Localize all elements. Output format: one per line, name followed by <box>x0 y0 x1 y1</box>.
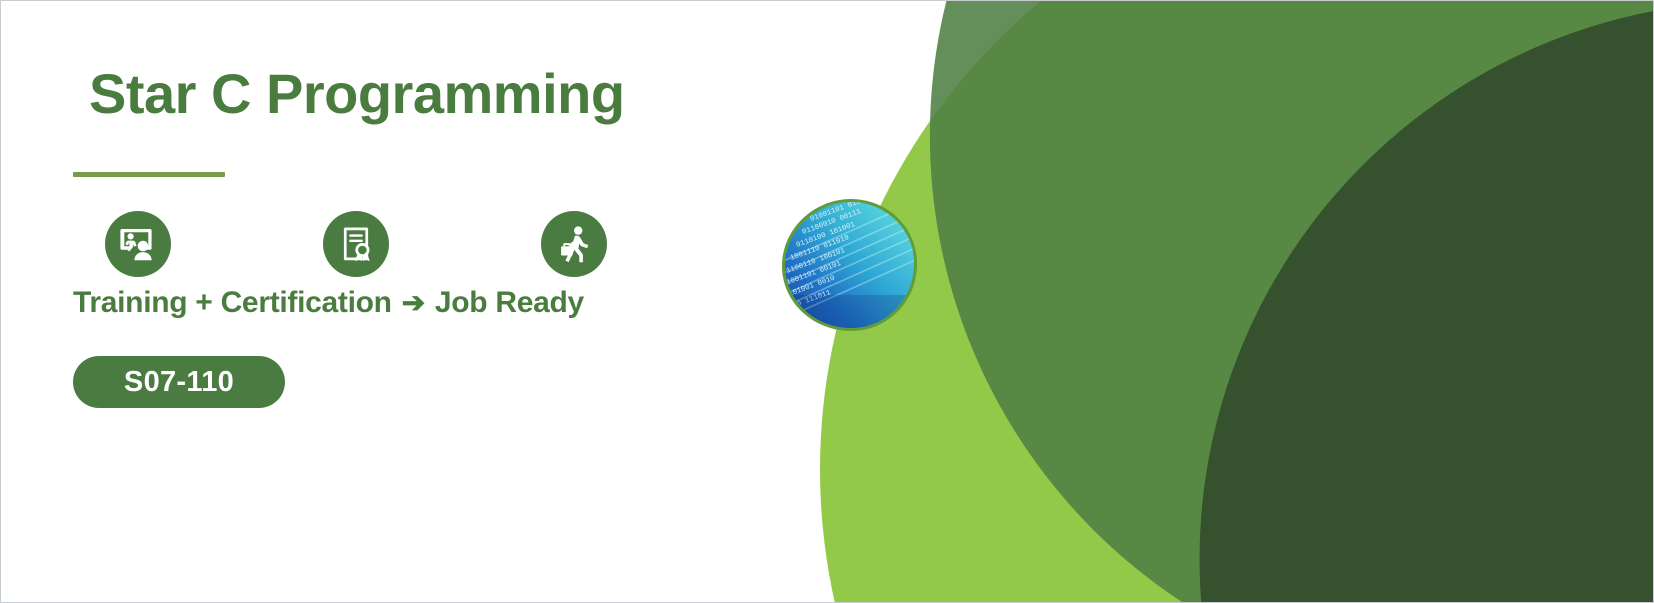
certificate-icon-glyph <box>336 224 376 264</box>
job-ready-icon[interactable] <box>541 211 607 277</box>
page-title: Star C Programming <box>89 65 625 124</box>
certificate-icon[interactable] <box>323 211 389 277</box>
course-code-badge[interactable]: S07-110 <box>73 356 285 408</box>
shape-dark-green-circle <box>1200 1 1653 602</box>
tagline-after-arrow: Job Ready <box>435 286 584 320</box>
training-icon-glyph <box>118 224 158 264</box>
arrow-right-icon: ➔ <box>402 289 425 317</box>
shape-light-green-circle <box>820 1 1653 602</box>
feature-icon-row <box>105 211 607 277</box>
binary-data-sphere: 01001101 0100 01100010 00111 0110100 101… <box>781 199 917 331</box>
course-banner: 01001101 0100 01100010 00111 0110100 101… <box>0 0 1654 603</box>
title-divider <box>73 172 225 177</box>
training-icon[interactable] <box>105 211 171 277</box>
banner-content: Star C Programming <box>73 1 773 602</box>
job-ready-icon-glyph <box>554 224 594 264</box>
tagline-before-arrow: Training + Certification <box>73 286 392 320</box>
tagline: Training + Certification ➔ Job Ready <box>73 286 584 320</box>
shape-mid-green-circle <box>930 1 1653 602</box>
